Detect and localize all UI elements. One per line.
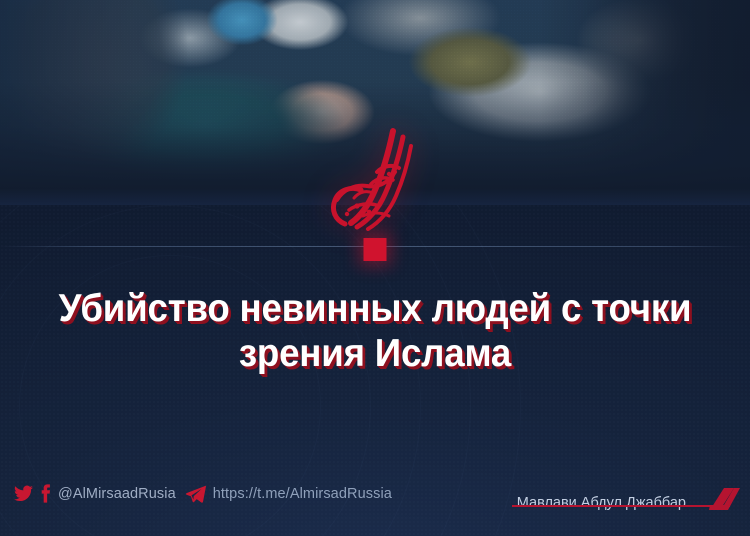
twitter-bird-icon[interactable] xyxy=(14,485,33,502)
brand-logo-block xyxy=(0,128,750,234)
telegram-url[interactable]: https://t.me/AlmirsadRussia xyxy=(213,486,392,502)
al-mirsaad-arabic-calligraphy-logo xyxy=(319,128,431,234)
footer-social-group: @AlMirsaadRusia https://t.me/AlmirsadRus… xyxy=(14,484,392,503)
author-underline-rule xyxy=(512,505,730,507)
telegram-plane-icon[interactable] xyxy=(186,485,206,503)
facebook-f-icon[interactable] xyxy=(40,484,51,503)
social-handle[interactable]: @AlMirsaadRusia xyxy=(58,486,176,502)
footer-bar: @AlMirsaadRusia https://t.me/AlmirsadRus… xyxy=(0,476,750,536)
al-mirsaad-angular-mark xyxy=(694,484,740,514)
poster-canvas: Убийство невинных людей с точки зрения И… xyxy=(0,0,750,536)
page-title: Убийство невинных людей с точки зрения И… xyxy=(23,286,728,376)
footer-author-group: Мавлави Абдул Джаббар xyxy=(517,484,740,514)
accent-square xyxy=(364,238,387,261)
